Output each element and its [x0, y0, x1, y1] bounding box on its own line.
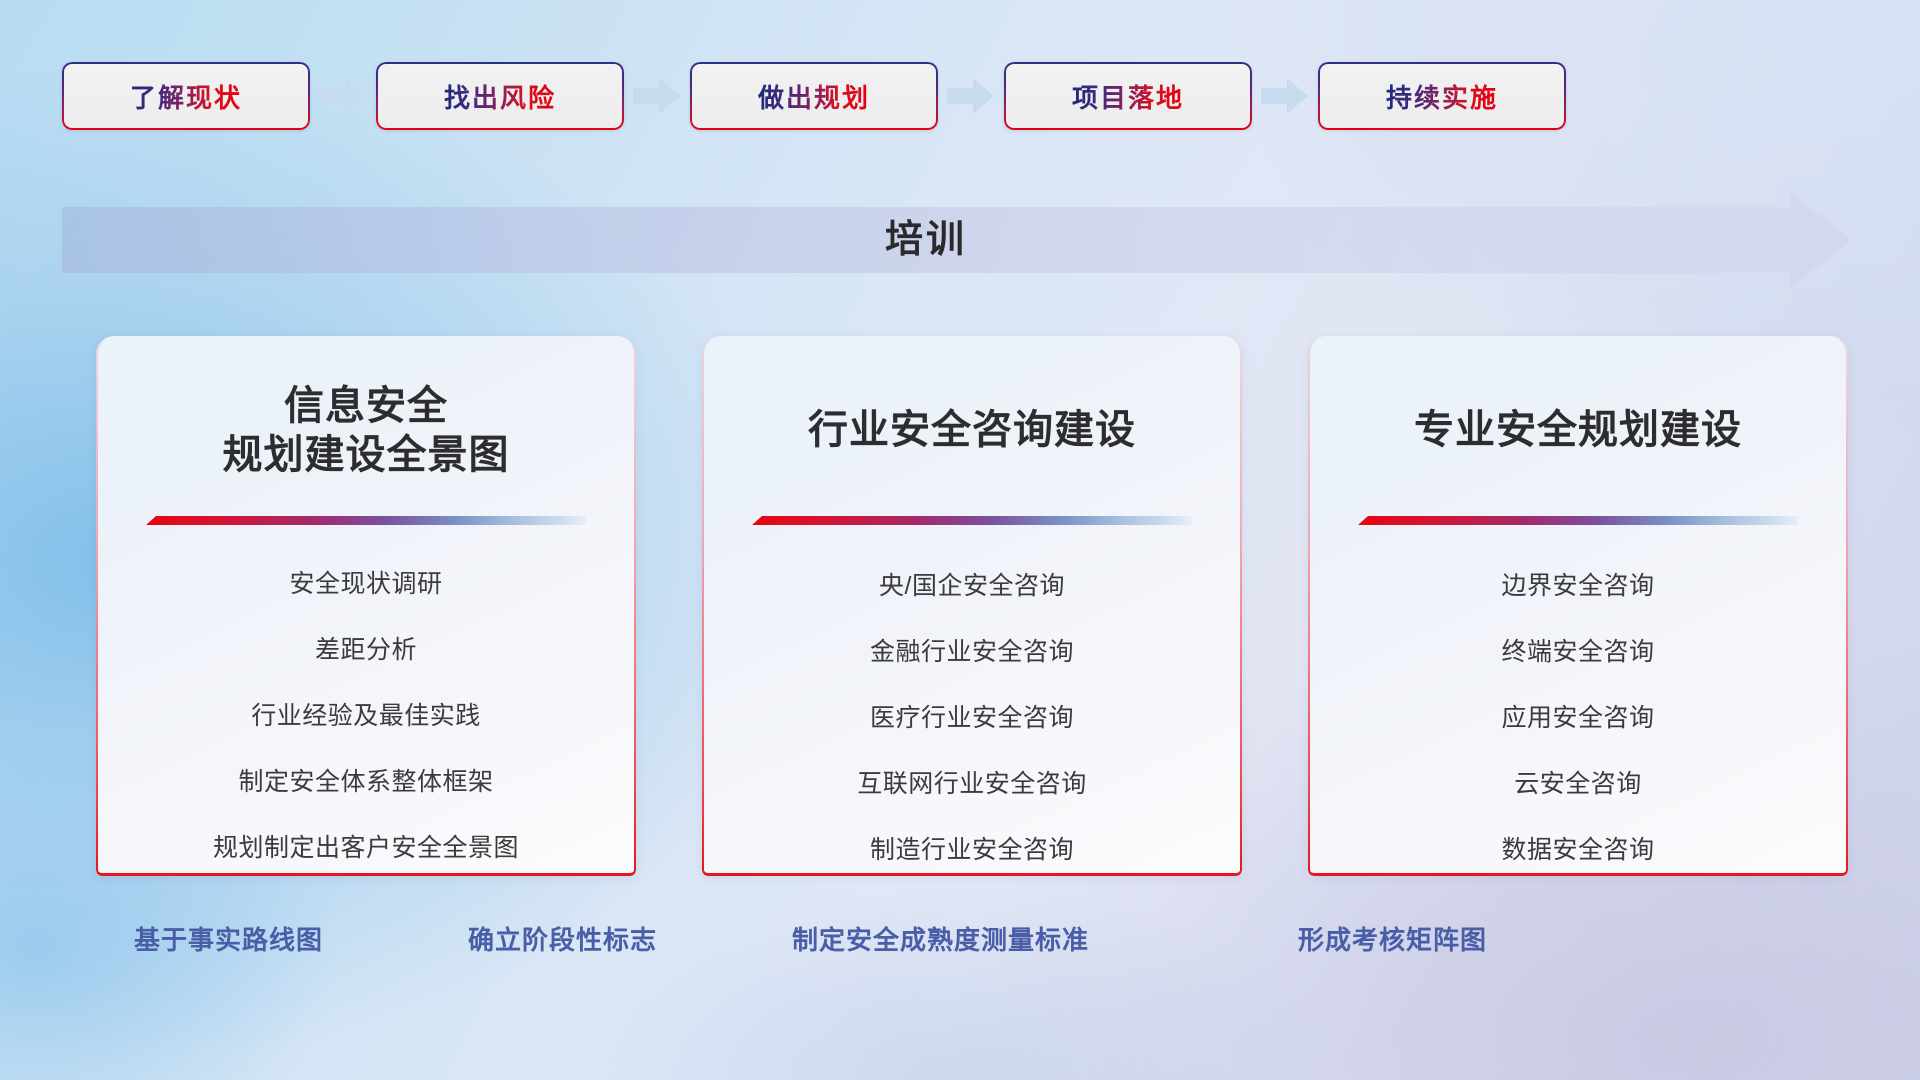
list-item: 差距分析 — [96, 638, 636, 663]
right-arrow-icon — [944, 73, 998, 119]
list-item: 制定安全体系整体框架 — [96, 770, 636, 795]
list-item: 医疗行业安全咨询 — [702, 706, 1242, 731]
right-arrow-icon — [1258, 73, 1312, 119]
footer-caption-3: 制定安全成熟度测量标准 — [792, 920, 1089, 957]
footer-caption-4: 形成考核矩阵图 — [1298, 920, 1487, 957]
service-card-3[interactable]: 专业安全规划建设 边界安全咨询 终端安全咨询 应用安全咨询 云安全咨询 数据安全… — [1308, 336, 1848, 876]
list-item: 金融行业安全咨询 — [702, 640, 1242, 665]
service-card-1[interactable]: 信息安全 规划建设全景图 安全现状调研 差距分析 行业经验及最佳实践 制定安全体… — [96, 336, 636, 876]
list-item: 云安全咨询 — [1308, 772, 1848, 797]
list-item: 应用安全咨询 — [1308, 706, 1848, 731]
service-card-3-divider — [1308, 516, 1848, 525]
list-item: 制造行业安全咨询 — [702, 838, 1242, 863]
footer-caption-1: 基于事实路线图 — [134, 920, 323, 957]
service-card-1-list: 安全现状调研 差距分析 行业经验及最佳实践 制定安全体系整体框架 规划制定出客户… — [96, 572, 636, 861]
service-card-2[interactable]: 行业安全咨询建设 央/国企安全咨询 金融行业安全咨询 医疗行业安全咨询 互联网行… — [702, 336, 1242, 876]
stepper-step-4-label: 项目落地 — [1072, 78, 1184, 115]
banner-arrow-tip-icon — [1790, 192, 1852, 288]
stepper-step-2[interactable]: 找出风险 — [376, 62, 624, 130]
list-item: 安全现状调研 — [96, 572, 636, 597]
service-card-3-list: 边界安全咨询 终端安全咨询 应用安全咨询 云安全咨询 数据安全咨询 — [1308, 574, 1848, 863]
list-item: 央/国企安全咨询 — [702, 574, 1242, 599]
stepper-step-3[interactable]: 做出规划 — [690, 62, 938, 130]
stepper-step-5[interactable]: 持续实施 — [1318, 62, 1566, 130]
list-item: 互联网行业安全咨询 — [702, 772, 1242, 797]
stepper-step-1[interactable]: 了解现状 — [62, 62, 310, 130]
list-item: 规划制定出客户安全全景图 — [96, 836, 636, 861]
service-card-3-title: 专业安全规划建设 — [1308, 336, 1848, 455]
stepper-step-4[interactable]: 项目落地 — [1004, 62, 1252, 130]
process-stepper: 了解现状 找出风险 做出规划 项目落地 持续实施 — [62, 60, 1852, 132]
banner-title: 培训 — [62, 207, 1790, 273]
service-card-2-list: 央/国企安全咨询 金融行业安全咨询 医疗行业安全咨询 互联网行业安全咨询 制造行… — [702, 574, 1242, 863]
service-cards: 信息安全 规划建设全景图 安全现状调研 差距分析 行业经验及最佳实践 制定安全体… — [96, 336, 1848, 876]
right-arrow-icon — [316, 73, 370, 119]
service-card-2-title: 行业安全咨询建设 — [702, 336, 1242, 455]
service-card-1-title: 信息安全 规划建设全景图 — [96, 336, 636, 480]
stepper-step-5-label: 持续实施 — [1386, 78, 1498, 115]
right-arrow-icon — [630, 73, 684, 119]
footer-caption-2: 确立阶段性标志 — [468, 920, 657, 957]
footer-captions: 基于事实路线图 确立阶段性标志 制定安全成熟度测量标准 形成考核矩阵图 — [0, 920, 1920, 960]
stepper-step-3-label: 做出规划 — [758, 78, 870, 115]
stepper-step-2-label: 找出风险 — [444, 78, 556, 115]
service-card-2-divider — [702, 516, 1242, 525]
list-item: 边界安全咨询 — [1308, 574, 1848, 599]
stepper-step-1-label: 了解现状 — [130, 78, 242, 115]
training-banner: 培训 — [62, 207, 1852, 273]
list-item: 数据安全咨询 — [1308, 838, 1848, 863]
list-item: 行业经验及最佳实践 — [96, 704, 636, 729]
service-card-1-divider — [96, 516, 636, 525]
list-item: 终端安全咨询 — [1308, 640, 1848, 665]
